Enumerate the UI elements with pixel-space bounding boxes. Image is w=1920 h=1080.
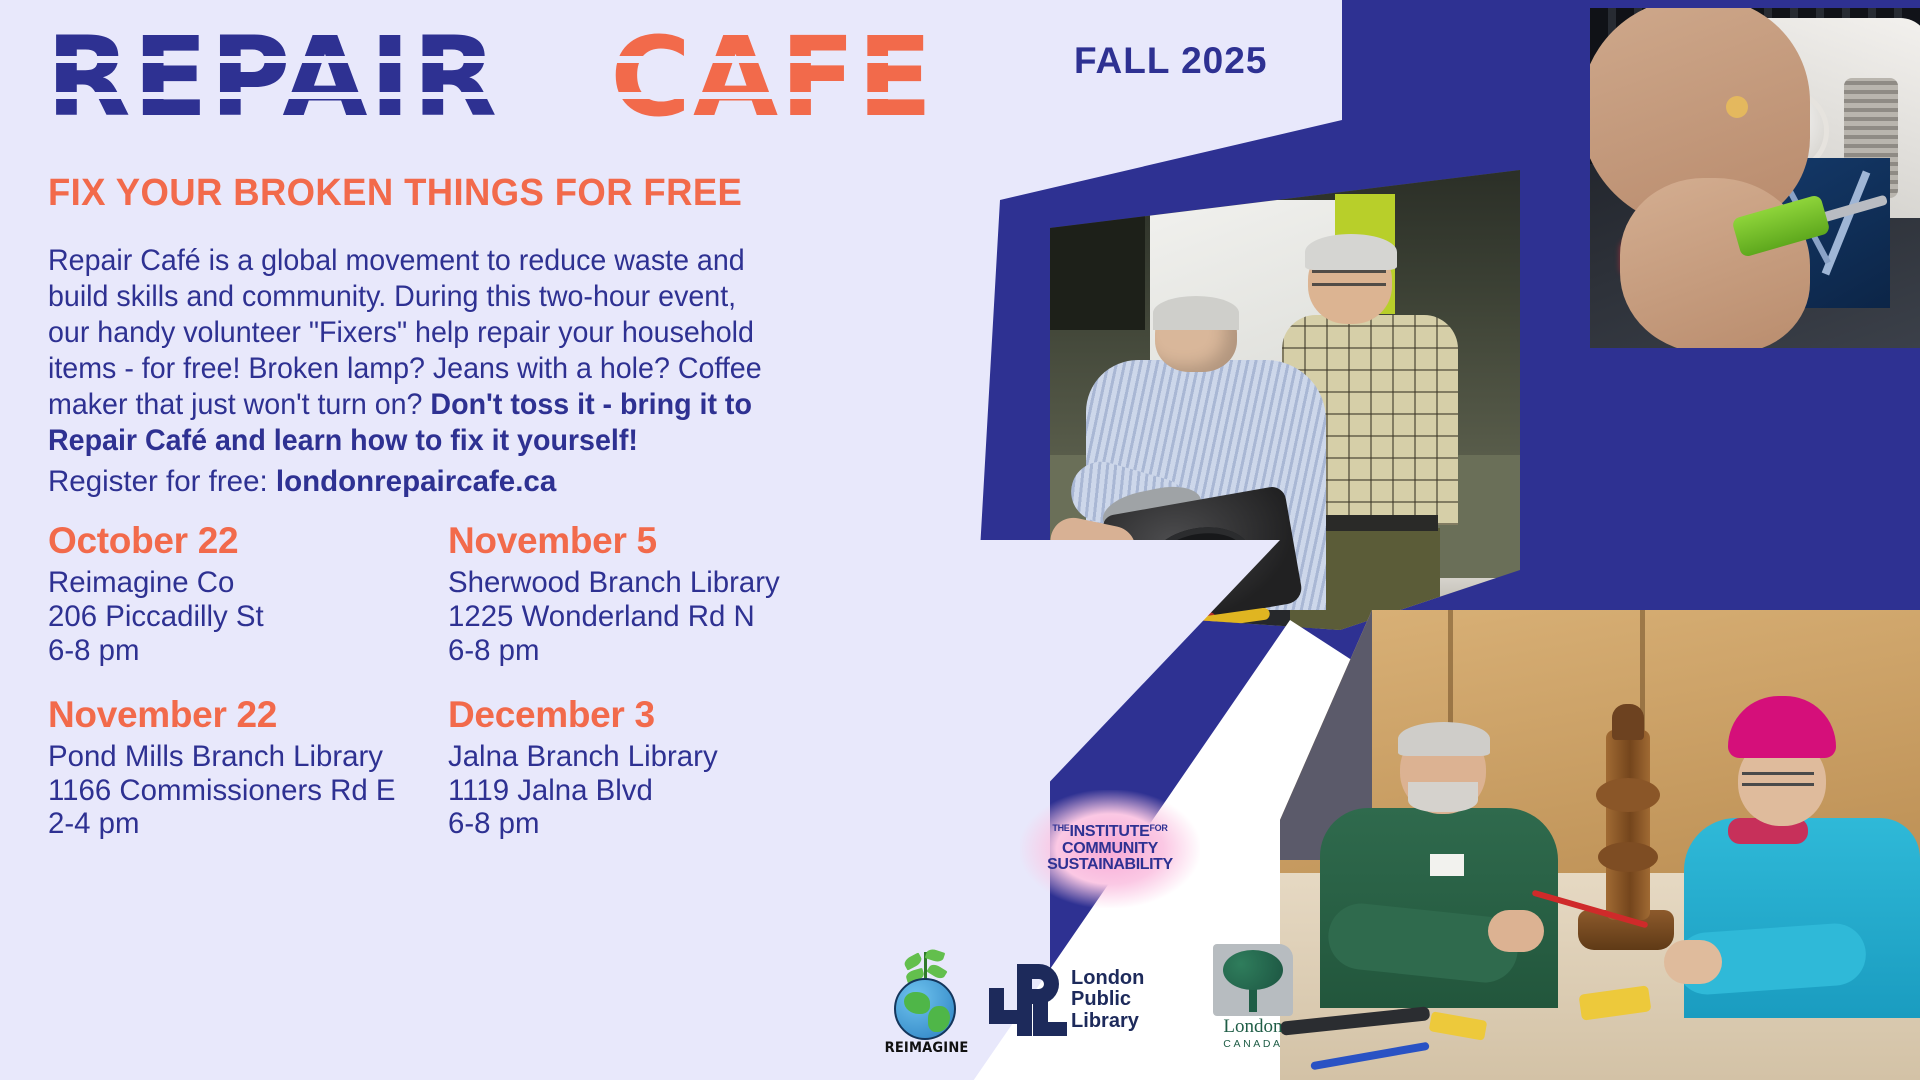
poster-headline: REPAIR CAFE [46, 22, 934, 133]
event-card: November 5 Sherwood Branch Library 1225 … [448, 520, 848, 668]
poster-canvas: REPAIR CAFE FALL 2025 FIX YOUR BROKEN TH… [0, 0, 1920, 1080]
event-venue: Sherwood Branch Library [448, 566, 840, 600]
event-time: 6-8 pm [448, 807, 840, 841]
body-copy: Repair Café is a global movement to redu… [48, 243, 766, 459]
event-venue: Pond Mills Branch Library [48, 740, 440, 774]
photo-lamp-repair [1280, 610, 1920, 1080]
event-date: November 5 [448, 520, 848, 562]
season-label: FALL 2025 [1074, 40, 1267, 82]
london-canada-subtext: CANADA [1205, 1038, 1301, 1050]
event-time: 2-4 pm [48, 807, 440, 841]
event-time: 6-8 pm [448, 634, 840, 668]
event-address: 1166 Commissioners Rd E [48, 774, 440, 808]
register-label: Register for free: [48, 465, 276, 498]
subheadline: FIX YOUR BROKEN THINGS FOR FREE [48, 172, 742, 215]
event-address: 206 Piccadilly St [48, 600, 440, 634]
reimagine-logo: REIMAGINE [880, 944, 971, 1056]
event-card: October 22 Reimagine Co 206 Piccadilly S… [48, 520, 448, 668]
london-wordmark: London [1205, 1016, 1301, 1038]
lpl-monogram-icon [989, 964, 1061, 1036]
events-row-2: November 22 Pond Mills Branch Library 11… [48, 694, 868, 868]
ics-the: THE [1052, 823, 1069, 833]
globe-landmass-icon [904, 992, 930, 1014]
city-of-london-logo: London CANADA [1205, 944, 1300, 1056]
institute-community-sustainability-logo: THEINSTITUTEFOR COMMUNITY SUSTAINABILITY [1020, 790, 1200, 908]
lpl-line-2: Public [1071, 989, 1144, 1011]
lpl-line-1: London [1071, 968, 1144, 990]
tree-canopy-icon [1223, 950, 1283, 990]
event-date: October 22 [48, 520, 448, 562]
ics-community: COMMUNITY [1047, 841, 1173, 858]
headline-repair: REPAIR [46, 22, 499, 132]
ics-sustainability: SUSTAINABILITY [1047, 857, 1173, 874]
events-grid: October 22 Reimagine Co 206 Piccadilly S… [48, 520, 868, 867]
event-time: 6-8 pm [48, 634, 440, 668]
lpl-line-3: Library [1071, 1011, 1144, 1033]
ics-for: FOR [1149, 823, 1167, 833]
register-line: Register for free: londonrepaircafe.ca [48, 465, 556, 499]
headline-cafe: CAFE [610, 22, 934, 132]
event-venue: Reimagine Co [48, 566, 440, 600]
partner-logo-strip: REIMAGINE London Public Library London C… [880, 940, 1300, 1060]
event-address: 1225 Wonderland Rd N [448, 600, 840, 634]
leaf-icon [925, 947, 946, 963]
reimagine-wordmark: REIMAGINE [885, 1040, 968, 1056]
photo-sewing-machine-repair [1590, 8, 1920, 348]
events-row-1: October 22 Reimagine Co 206 Piccadilly S… [48, 520, 868, 694]
event-venue: Jalna Branch Library [448, 740, 840, 774]
event-date: December 3 [448, 694, 848, 736]
event-card: December 3 Jalna Branch Library 1119 Jal… [448, 694, 848, 842]
event-date: November 22 [48, 694, 448, 736]
register-url[interactable]: londonrepaircafe.ca [276, 465, 556, 498]
ics-institute: INSTITUTE [1070, 823, 1150, 840]
london-public-library-logo: London Public Library [989, 954, 1187, 1046]
event-card: November 22 Pond Mills Branch Library 11… [48, 694, 448, 842]
event-address: 1119 Jalna Blvd [448, 774, 840, 808]
lpl-wordmark: London Public Library [1071, 968, 1144, 1033]
